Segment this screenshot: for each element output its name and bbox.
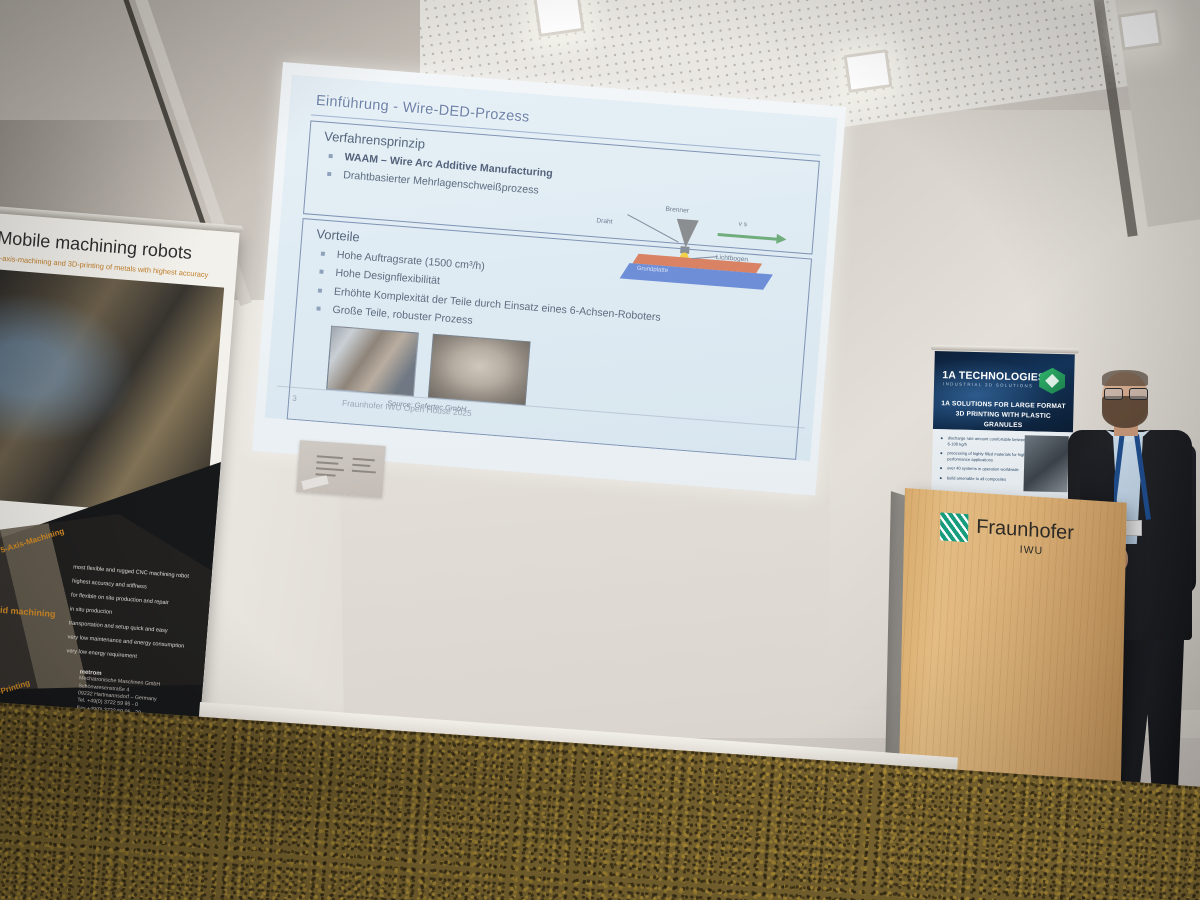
travel-direction-arrow-icon — [718, 233, 778, 241]
banner-bullet-item: over 40 systems in operation worldwide — [940, 465, 1028, 473]
banner-feature-item: highest accuracy and stiffness — [72, 579, 192, 596]
banner-bullet-item: build amenable to all composites — [940, 475, 1028, 483]
printed-bracket-photo — [428, 334, 531, 406]
printed-part-photo — [326, 326, 419, 397]
banner-headline: 1A SOLUTIONS FOR LARGE FORMAT 3D PRINTIN… — [939, 399, 1068, 432]
presenter-hair — [1102, 370, 1148, 386]
banner-bullet-list: discharge rate amount comfortable betwee… — [940, 435, 1029, 486]
projection-screen: Einführung - Wire-DED-Prozess Verfahrens… — [252, 62, 846, 496]
banner-bullet-item: discharge rate amount comfortable betwee… — [941, 435, 1029, 448]
slide-title: Einführung - Wire-DED-Prozess — [315, 93, 530, 126]
banner-feature-item: very low maintenance and energy consumpt… — [67, 634, 187, 651]
wall-paper-note — [296, 440, 385, 498]
presentation-slide: Einführung - Wire-DED-Prozess Verfahrens… — [265, 75, 838, 461]
slide-page-number: 3 — [292, 394, 297, 403]
presenter-beard — [1102, 396, 1148, 428]
ceiling-light-icon — [533, 0, 584, 37]
banner-feature-item: very low energy requirement — [66, 648, 186, 665]
ceiling-light-icon — [844, 49, 893, 93]
diagram-label-draht: Draht — [596, 217, 613, 225]
banner-feature-item: transportation and setup quick and easy — [68, 620, 188, 637]
torch-icon — [675, 219, 699, 249]
leader-line — [627, 214, 678, 243]
banner-brand-tagline: INDUSTRIAL 3D SOLUTIONS — [943, 381, 1033, 388]
slide-footer-event: Fraunhofer IWU Open House 2025 — [342, 398, 472, 418]
fraunhofer-logo-icon — [940, 512, 969, 542]
conference-room-photo: Einführung - Wire-DED-Prozess Verfahrens… — [0, 0, 1200, 900]
banner-feature-item: in situ production — [70, 606, 190, 623]
banner-bullet-item: processing of highly filled materials fo… — [940, 450, 1028, 463]
banner-feature-item: for flexible on site production and repa… — [71, 592, 191, 609]
section-heading: Verfahrensprinzip — [324, 129, 426, 152]
diagram-label-brenner: Brenner — [665, 206, 689, 215]
ceiling-light-icon — [1118, 9, 1163, 50]
eyeglasses-icon — [1104, 388, 1148, 398]
diagram-label-vs: v s — [738, 221, 747, 229]
institute-abbreviation: IWU — [1020, 544, 1044, 558]
banner-feature-list: most flexible and rugged CNC machining r… — [66, 565, 193, 672]
banner-header-panel: 1A TECHNOLOGIES INDUSTRIAL 3D SOLUTIONS … — [933, 351, 1075, 432]
section-heading: Vorteile — [316, 226, 360, 244]
